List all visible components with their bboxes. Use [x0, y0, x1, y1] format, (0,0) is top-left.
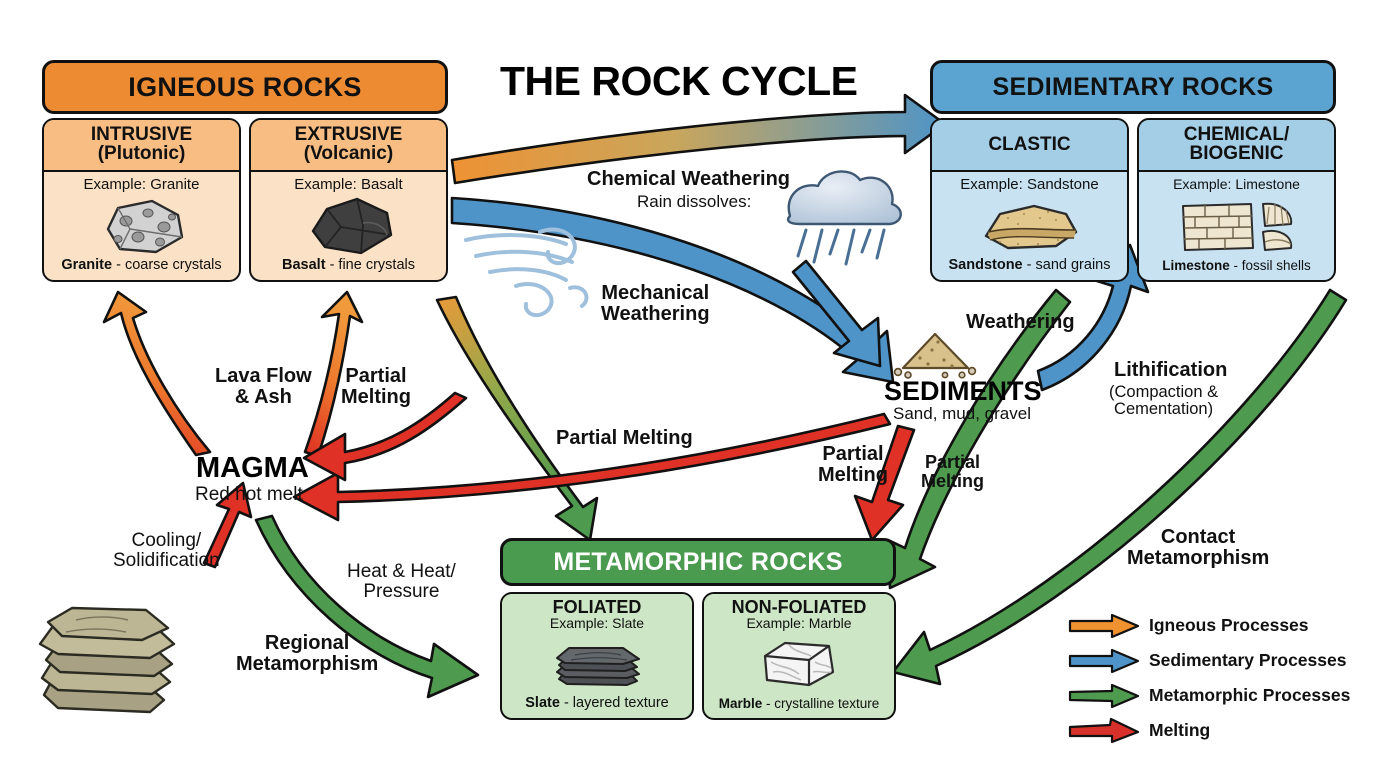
card-intrusive-caption-bold: Granite — [61, 257, 112, 273]
card-chemical-biogenic-example: Example: Limestone — [1173, 177, 1300, 192]
legend-label-igneous: Igneous Processes — [1149, 615, 1309, 636]
label-mechanical-weathering: Mechanical Weathering — [601, 283, 710, 325]
sandstone-rock-icon — [932, 194, 1127, 258]
label-regional-metamorphism: Regional Metamorphism — [236, 633, 378, 675]
sediments-subtitle: Sand, mud, gravel — [893, 404, 1031, 424]
label-rain-dissolves: Rain dissolves: — [637, 193, 751, 211]
card-extrusive-caption-bold: Basalt — [282, 257, 326, 273]
legend-label-melting: Melting — [1149, 720, 1210, 741]
card-non-foliated-caption-rest: - crystalline texture — [762, 696, 879, 711]
card-foliated-example: Example: Slate — [550, 616, 644, 631]
legend-item-melting: Melting — [1068, 713, 1350, 748]
card-non-foliated-example: Example: Marble — [746, 616, 851, 631]
card-intrusive-caption-rest: - coarse crystals — [112, 257, 222, 273]
label-lava-flow-ash: Lava Flow & Ash — [215, 366, 312, 408]
arrow-magma-to-intrusive — [104, 292, 210, 455]
label-contact-metamorphism: Contact Metamorphism — [1127, 527, 1269, 569]
legend-label-metamorphic: Metamorphic Processes — [1149, 685, 1350, 706]
label-chemical-weathering: Chemical Weathering — [587, 169, 790, 190]
arrow-right-icon — [1068, 648, 1140, 674]
legend-label-sedimentary: Sedimentary Processes — [1149, 650, 1346, 671]
group-igneous: IGNEOUS ROCKS INTRUSIVE (Plutonic) Examp… — [42, 60, 448, 282]
igneous-header: IGNEOUS ROCKS — [42, 60, 448, 114]
card-clastic-example: Example: Sandstone — [960, 177, 1098, 194]
label-heat-pressure: Heat & Heat/ Pressure — [347, 562, 456, 602]
card-non-foliated[interactable]: NON-FOLIATED Example: Marble — [702, 592, 896, 720]
label-partial-melting-center: Partial Melting — [556, 428, 693, 449]
metamorphic-header: METAMORPHIC ROCKS — [500, 538, 896, 586]
layered-sedimentary-rock-icon — [40, 608, 174, 712]
group-metamorphic: METAMORPHIC ROCKS FOLIATED Example: Slat… — [500, 538, 896, 720]
legend-item-sedimentary: Sedimentary Processes — [1068, 643, 1350, 678]
card-non-foliated-caption-bold: Marble — [719, 696, 763, 711]
legend-item-metamorphic: Metamorphic Processes — [1068, 678, 1350, 713]
sand-pile-icon — [895, 334, 976, 378]
label-weathering: Weathering — [966, 312, 1075, 333]
card-intrusive[interactable]: INTRUSIVE (Plutonic) Example: Granite — [42, 118, 241, 282]
slate-rock-icon — [502, 632, 692, 696]
wind-swirl-icon — [466, 229, 586, 315]
arrow-sedimentary-to-metamorphic — [888, 290, 1070, 588]
legend-item-igneous: Igneous Processes — [1068, 608, 1350, 643]
magma-title: MAGMA — [196, 452, 309, 485]
card-intrusive-caption: Granite - coarse crystals — [61, 258, 221, 280]
rain-cloud-icon — [788, 171, 901, 264]
label-partial-melting-extrusive: Partial Melting — [341, 366, 411, 408]
card-foliated-caption: Slate - layered texture — [525, 696, 668, 718]
group-sedimentary: SEDIMENTARY ROCKS CLASTIC Example: Sands… — [930, 60, 1336, 282]
granite-rock-icon — [44, 193, 239, 258]
limestone-rock-icon — [1139, 192, 1334, 259]
card-extrusive-example: Example: Basalt — [294, 177, 402, 194]
basalt-rock-icon — [251, 193, 446, 258]
card-non-foliated-title: NON-FOLIATED — [704, 594, 894, 616]
label-partial-melting-right: Partial Melting — [921, 453, 984, 491]
card-extrusive-title: EXTRUSIVE (Volcanic) — [251, 120, 446, 172]
card-foliated-title: FOLIATED — [502, 594, 692, 616]
sediments-title: SEDIMENTS — [884, 376, 1042, 407]
legend: Igneous Processes Sedimentary Processes … — [1068, 608, 1350, 748]
card-extrusive-caption: Basalt - fine crystals — [282, 258, 415, 280]
arrow-right-icon — [1068, 613, 1140, 639]
card-chemical-biogenic-caption: Limestone - fossil shells — [1162, 259, 1311, 280]
page-title: THE ROCK CYCLE — [500, 58, 857, 105]
card-clastic-caption: Sandstone - sand grains — [949, 258, 1111, 280]
card-clastic-title: CLASTIC — [932, 120, 1127, 172]
sedimentary-header: SEDIMENTARY ROCKS — [930, 60, 1336, 114]
arrow-right-icon — [1068, 718, 1140, 744]
card-extrusive[interactable]: EXTRUSIVE (Volcanic) Example: Basalt Bas… — [249, 118, 448, 282]
card-clastic[interactable]: CLASTIC Example: Sandstone — [930, 118, 1129, 282]
card-foliated-caption-rest: - layered texture — [560, 695, 669, 711]
rock-cycle-diagram: THE ROCK CYCLE IGNEOUS ROCKS INTRUSIVE (… — [0, 0, 1376, 768]
magma-subtitle: Red hot melt — [195, 484, 303, 506]
arrow-right-icon — [1068, 683, 1140, 709]
card-intrusive-title: INTRUSIVE (Plutonic) — [44, 120, 239, 172]
card-foliated-caption-bold: Slate — [525, 695, 560, 711]
label-lithification-detail: (Compaction & Cementation) — [1109, 384, 1218, 419]
card-clastic-caption-rest: - sand grains — [1023, 257, 1111, 273]
label-lithification: Lithification — [1114, 360, 1227, 381]
arrow-igneous-to-metamorphic — [437, 297, 597, 540]
marble-rock-icon — [704, 632, 894, 697]
card-intrusive-example: Example: Granite — [84, 177, 200, 194]
card-foliated[interactable]: FOLIATED Example: Slate — [500, 592, 694, 720]
card-chemical-biogenic-title: CHEMICAL/ BIOGENIC — [1139, 120, 1334, 172]
card-chemical-biogenic-caption-rest: - fossil shells — [1230, 258, 1311, 273]
card-extrusive-caption-rest: - fine crystals — [326, 257, 415, 273]
label-partial-melting-mid: Partial Melting — [818, 444, 888, 486]
card-clastic-caption-bold: Sandstone — [949, 257, 1023, 273]
card-chemical-biogenic-caption-bold: Limestone — [1162, 258, 1230, 273]
card-non-foliated-caption: Marble - crystalline texture — [719, 697, 880, 718]
label-cooling-solidification: Cooling/ Solidification — [113, 531, 220, 571]
card-chemical-biogenic[interactable]: CHEMICAL/ BIOGENIC Example: Limestone — [1137, 118, 1336, 282]
